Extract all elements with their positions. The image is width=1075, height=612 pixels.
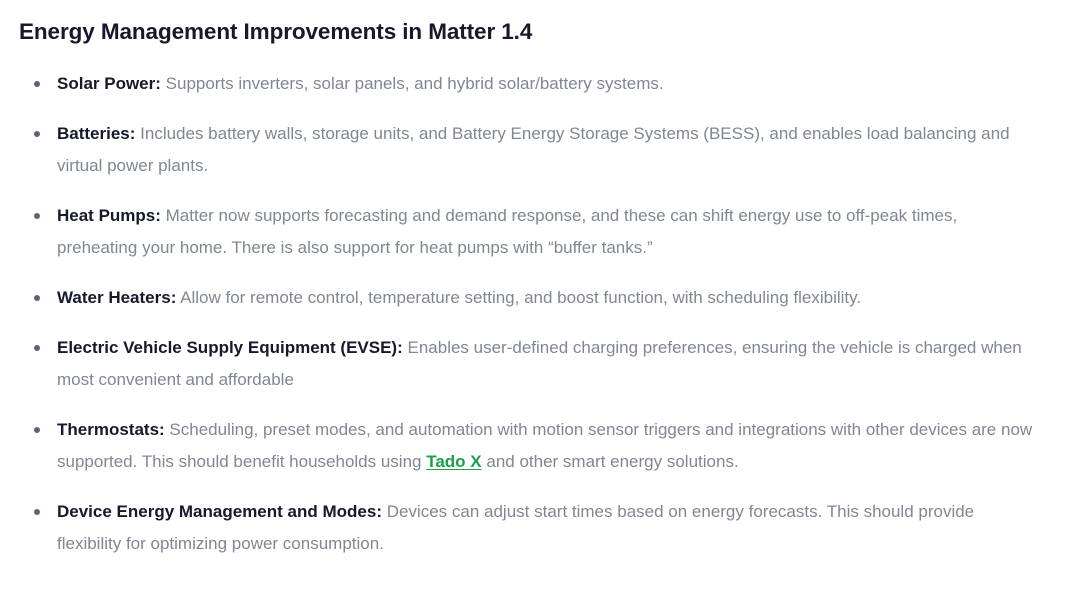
list-item-label: Thermostats:: [57, 420, 165, 439]
bullet-point-icon: [34, 345, 40, 351]
list-item-label: Batteries:: [57, 124, 135, 143]
document-page: Energy Management Improvements in Matter…: [0, 0, 1075, 612]
list-item-text: Allow for remote control, temperature se…: [176, 288, 861, 307]
list-item-label: Solar Power:: [57, 74, 161, 93]
list-item: Heat Pumps: Matter now supports forecast…: [0, 200, 1075, 264]
list-item-text-after-link: and other smart energy solutions.: [482, 452, 739, 471]
list-item-text: Includes battery walls, storage units, a…: [57, 124, 1010, 175]
list-item-text: Matter now supports forecasting and dema…: [57, 206, 957, 257]
tado-x-link[interactable]: Tado X: [426, 452, 481, 471]
list-item-label: Heat Pumps:: [57, 206, 161, 225]
page-title: Energy Management Improvements in Matter…: [19, 18, 532, 46]
bullet-point-icon: [34, 509, 40, 515]
list-item: Water Heaters: Allow for remote control,…: [0, 282, 1075, 314]
list-item: Batteries: Includes battery walls, stora…: [0, 118, 1075, 182]
list-item: Thermostats: Scheduling, preset modes, a…: [0, 414, 1075, 478]
bullet-point-icon: [34, 131, 40, 137]
list-item: Electric Vehicle Supply Equipment (EVSE)…: [0, 332, 1075, 396]
feature-bullet-list: Solar Power: Supports inverters, solar p…: [0, 68, 1075, 560]
list-item-label: Electric Vehicle Supply Equipment (EVSE)…: [57, 338, 403, 357]
bullet-point-icon: [34, 213, 40, 219]
list-item-label: Water Heaters:: [57, 288, 176, 307]
bullet-point-icon: [34, 295, 40, 301]
list-item: Device Energy Management and Modes: Devi…: [0, 496, 1075, 560]
list-item-text: Supports inverters, solar panels, and hy…: [161, 74, 664, 93]
list-item: Solar Power: Supports inverters, solar p…: [0, 68, 1075, 100]
bullet-point-icon: [34, 427, 40, 433]
bullet-point-icon: [34, 81, 40, 87]
list-item-label: Device Energy Management and Modes:: [57, 502, 382, 521]
